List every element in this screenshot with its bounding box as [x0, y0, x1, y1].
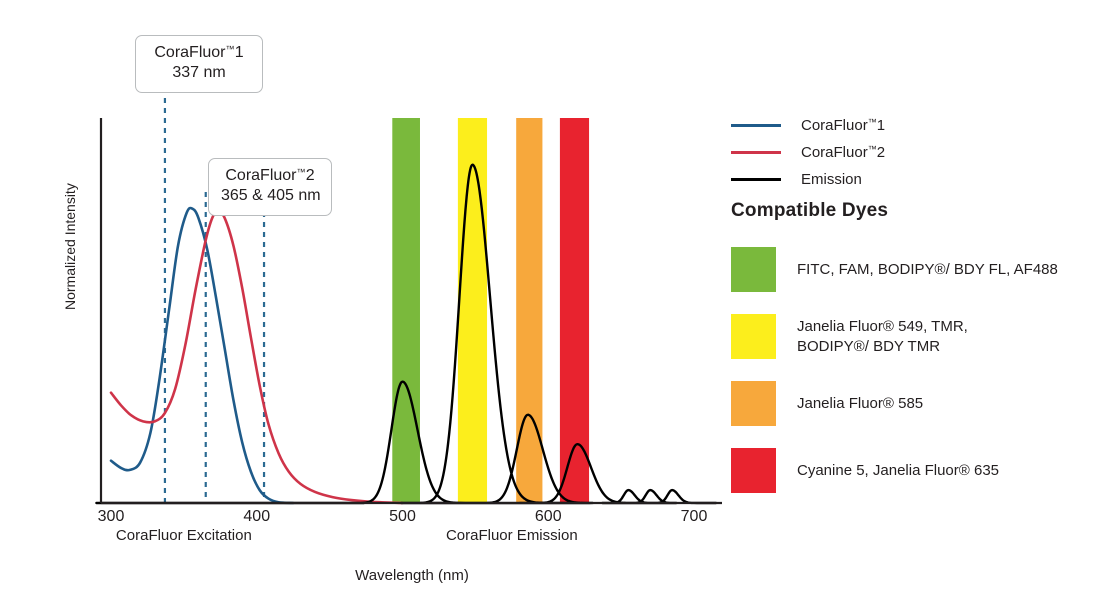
legend-row: Emission: [731, 166, 1101, 193]
fluorescence-spectra-figure: CoraFluor™1 337 nm CoraFluor™2 365 & 405…: [0, 0, 1110, 612]
series-legend: CoraFluor™1CoraFluor™2Emission: [731, 112, 1101, 193]
range-label-excitation: CoraFluor Excitation: [116, 527, 252, 544]
x-tick-300: 300: [98, 508, 125, 526]
x-tick-500: 500: [389, 508, 416, 526]
x-axis-title: Wavelength (nm): [355, 567, 469, 584]
callout-corafluor-1-title: CoraFluor™1: [148, 43, 250, 63]
callout-corafluor-2-title: CoraFluor™2: [221, 166, 319, 186]
legend-label: Emission: [801, 171, 862, 188]
legend-line-swatch: [731, 151, 781, 154]
legend-row: CoraFluor™1: [731, 112, 1101, 139]
green-band: [392, 118, 420, 503]
dye-row: Janelia Fluor® 585: [731, 370, 1106, 437]
legend-row: CoraFluor™2: [731, 139, 1101, 166]
dye-label: Janelia Fluor® 585: [797, 394, 923, 414]
dye-row: Janelia Fluor® 549, TMR,BODIPY®/ BDY TMR: [731, 303, 1106, 370]
orange-band: [516, 118, 542, 503]
x-tick-400: 400: [243, 508, 270, 526]
curve-corafluor-2-excitation: [111, 212, 403, 503]
callout-corafluor-1: CoraFluor™1 337 nm: [135, 35, 263, 93]
y-axis-title: Normalized Intensity: [62, 183, 78, 310]
yellow-band: [458, 118, 487, 503]
dye-label: FITC, FAM, BODIPY®/ BDY FL, AF488: [797, 260, 1058, 280]
x-tick-600: 600: [535, 508, 562, 526]
callout-corafluor-2: CoraFluor™2 365 & 405 nm: [208, 158, 332, 216]
dye-row: FITC, FAM, BODIPY®/ BDY FL, AF488: [731, 236, 1106, 303]
dye-color-swatch: [731, 381, 776, 426]
legend-line-swatch: [731, 178, 781, 181]
dye-label: Cyanine 5, Janelia Fluor® 635: [797, 461, 999, 481]
compatible-dyes-heading: Compatible Dyes: [731, 200, 888, 222]
dye-color-swatch: [731, 247, 776, 292]
compatible-dyes-list: FITC, FAM, BODIPY®/ BDY FL, AF488Janelia…: [731, 236, 1106, 504]
legend-label: CoraFluor™1: [801, 117, 885, 134]
range-label-emission: CoraFluor Emission: [446, 527, 578, 544]
callout-corafluor-1-value: 337 nm: [148, 63, 250, 83]
dye-color-swatch: [731, 448, 776, 493]
dye-color-swatch: [731, 314, 776, 359]
callout-corafluor-2-value: 365 & 405 nm: [221, 186, 319, 206]
dye-row: Cyanine 5, Janelia Fluor® 635: [731, 437, 1106, 504]
legend-line-swatch: [731, 124, 781, 127]
x-tick-700: 700: [681, 508, 708, 526]
dye-label: Janelia Fluor® 549, TMR,BODIPY®/ BDY TMR: [797, 317, 968, 357]
legend-label: CoraFluor™2: [801, 144, 885, 161]
